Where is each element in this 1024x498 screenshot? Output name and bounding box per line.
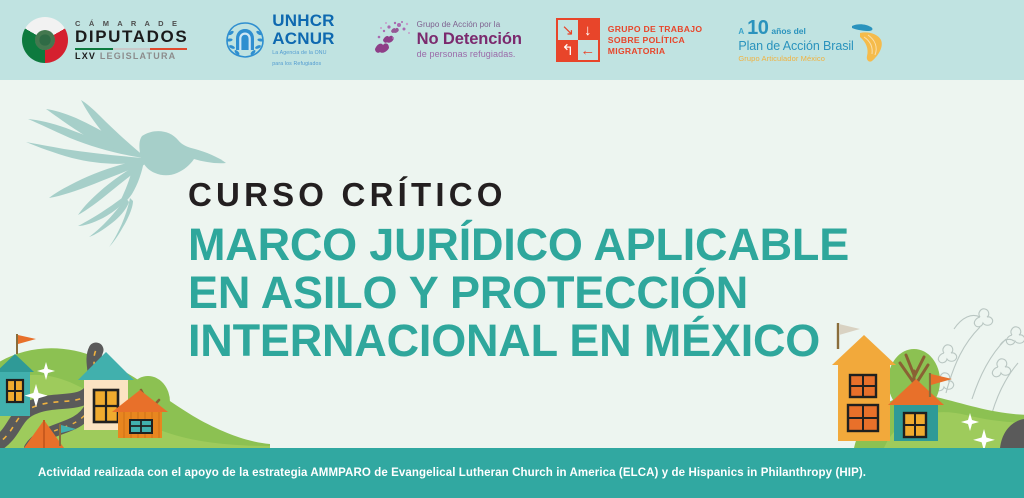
- footer-banner: Actividad realizada con el apoyo de la e…: [0, 448, 1024, 498]
- arrow-cell-top-right: ↓: [578, 20, 598, 40]
- mexico-coat-of-arms-icon: [22, 17, 68, 63]
- partner-logo-band: C Á M A R A D E DIPUTADOS LXV LEGISLATUR…: [0, 0, 1024, 80]
- unhcr-text-block: UNHCR ACNUR La Agencia de la ONU para lo…: [272, 12, 334, 68]
- plan-brasil-line1: A 10 años del: [738, 18, 853, 38]
- poster-stage: CURSO CRÍTICO MARCO JURÍDICO APLICABLE E…: [0, 80, 1024, 448]
- butterflies-icon: [369, 19, 413, 61]
- camara-legislature-roman: LXV: [75, 51, 96, 61]
- grupo-trabajo-line2: SOBRE POLÍTICA: [608, 35, 703, 46]
- camara-text-block: C Á M A R A D E DIPUTADOS LXV LEGISLATUR…: [75, 20, 188, 61]
- plan-brasil-line3: Grupo Articulador México: [738, 55, 853, 63]
- camara-legislature: LXV LEGISLATURA: [75, 52, 188, 61]
- camara-legislature-word: LEGISLATURA: [100, 51, 177, 61]
- footer-credit-text: Actividad realizada con el apoyo de la e…: [38, 467, 866, 479]
- arrow-cell-bottom-right: ←: [578, 40, 598, 60]
- camara-tricolor-rule: [75, 48, 187, 50]
- no-detencion-text-block: Grupo de Acción por la No Detención de p…: [417, 21, 522, 59]
- plan-brasil-text-block: A 10 años del Plan de Acción Brasil Grup…: [738, 18, 853, 62]
- arrow-cell-top-left: ↘: [558, 20, 578, 40]
- page-title-line-2: EN ASILO Y PROTECCIÓN: [188, 269, 849, 317]
- no-detencion-line1: Grupo de Acción por la: [417, 21, 522, 29]
- grupo-trabajo-line3: MIGRATORIA: [608, 46, 703, 57]
- south-america-map-icon: [848, 20, 888, 64]
- camara-line2: DIPUTADOS: [75, 28, 188, 45]
- poster-root: C Á M A R A D E DIPUTADOS LXV LEGISLATUR…: [0, 0, 1024, 498]
- logo-plan-accion-brasil: A 10 años del Plan de Acción Brasil Grup…: [738, 18, 853, 62]
- logo-no-detencion: Grupo de Acción por la No Detención de p…: [369, 19, 522, 61]
- no-detencion-line3: de personas refugiadas.: [417, 50, 522, 59]
- plan-brasil-prefix: A: [738, 28, 744, 36]
- no-detencion-line2: No Detención: [417, 31, 522, 48]
- page-title-line-3: INTERNACIONAL EN MÉXICO: [188, 317, 849, 365]
- unhcr-sub2: para los Refugiados: [272, 61, 334, 69]
- four-arrows-square-icon: ↘ ↓ ↰ ←: [556, 18, 600, 62]
- logo-camara-de-diputados: C Á M A R A D E DIPUTADOS LXV LEGISLATUR…: [22, 17, 188, 63]
- plan-brasil-anios: años del: [771, 27, 805, 36]
- unhcr-line2: ACNUR: [272, 30, 334, 47]
- grupo-trabajo-line1: GRUPO DE TRABAJO: [608, 24, 703, 35]
- plan-brasil-number: 10: [747, 18, 768, 38]
- hero-titles: CURSO CRÍTICO MARCO JURÍDICO APLICABLE E…: [188, 178, 849, 365]
- unhcr-line1: UNHCR: [272, 12, 334, 29]
- page-kicker: CURSO CRÍTICO: [188, 178, 849, 211]
- arrow-cell-bottom-left: ↰: [558, 40, 578, 60]
- grupo-trabajo-text-block: GRUPO DE TRABAJO SOBRE POLÍTICA MIGRATOR…: [608, 24, 703, 57]
- camara-line1: C Á M A R A D E: [75, 20, 188, 28]
- page-title-line-1: MARCO JURÍDICO APLICABLE: [188, 221, 849, 269]
- logo-unhcr-acnur: UNHCR ACNUR La Agencia de la ONU para lo…: [224, 12, 334, 68]
- logo-grupo-trabajo-politica-migratoria: ↘ ↓ ↰ ← GRUPO DE TRABAJO SOBRE POLÍTICA …: [556, 18, 703, 62]
- unhcr-laurel-hands-icon: [224, 20, 266, 60]
- plan-brasil-line2: Plan de Acción Brasil: [738, 40, 853, 53]
- unhcr-sub1: La Agencia de la ONU: [272, 50, 334, 58]
- page-title: MARCO JURÍDICO APLICABLE EN ASILO Y PROT…: [188, 221, 849, 365]
